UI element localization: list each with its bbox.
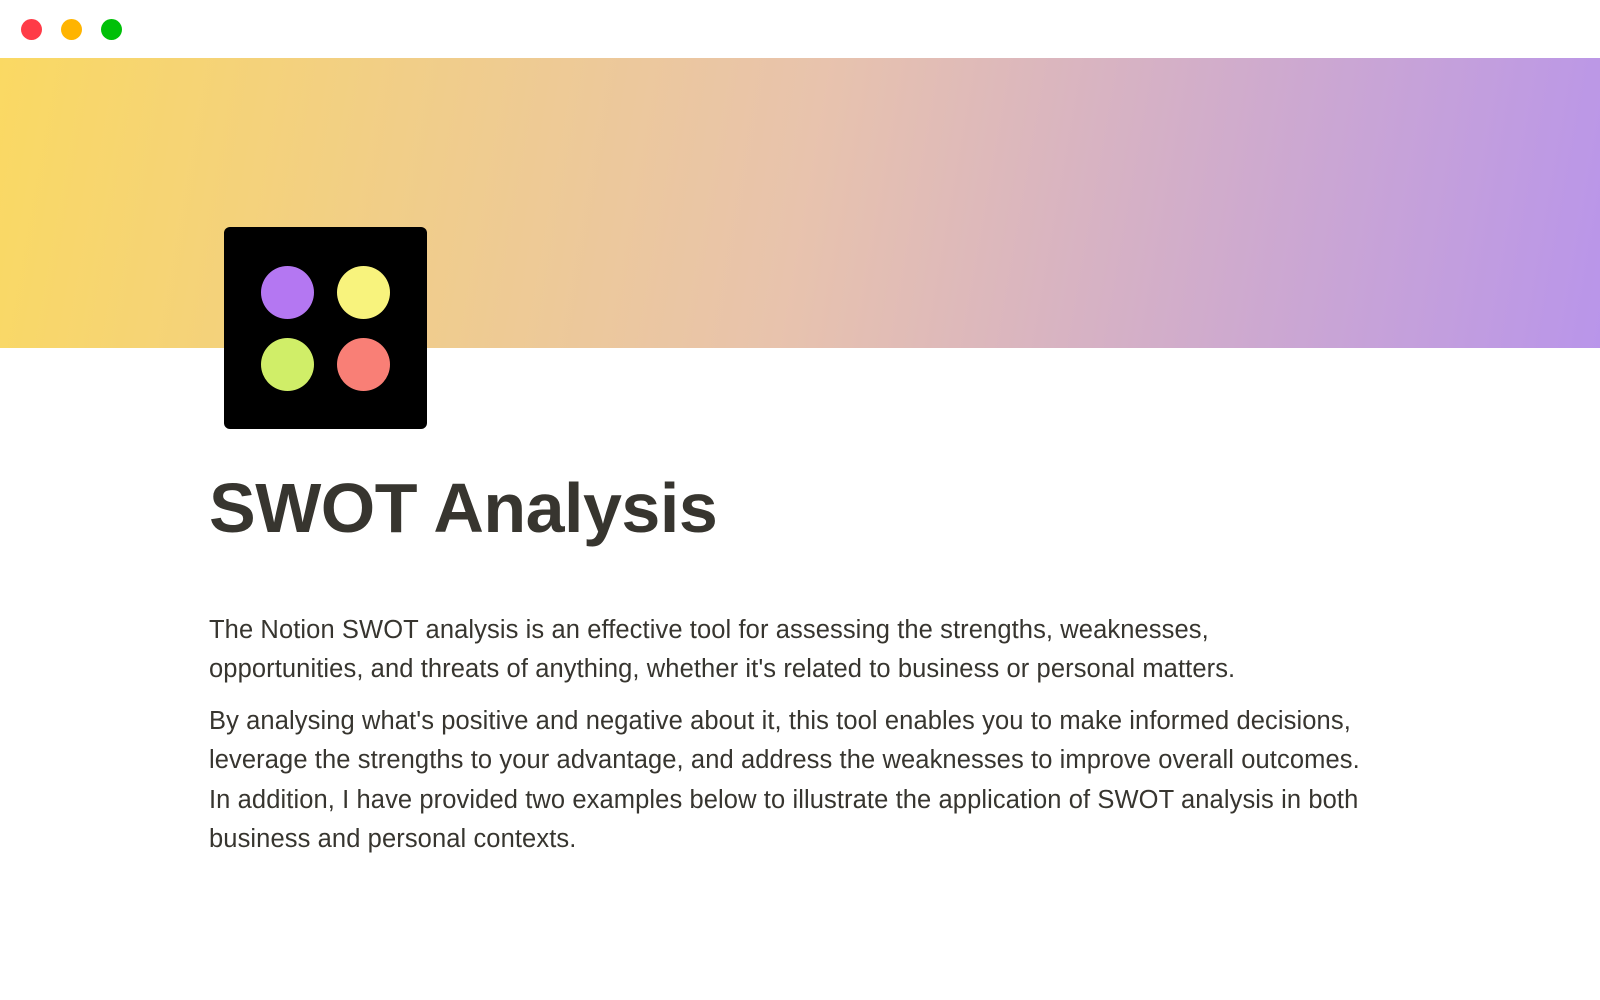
icon-dot-yellow [337,266,390,319]
icon-dot-purple [261,266,314,319]
description-paragraph[interactable]: By analysing what's positive and negativ… [209,702,1374,860]
intro-paragraph[interactable]: The Notion SWOT analysis is an effective… [209,611,1314,690]
minimize-button[interactable] [61,19,82,40]
document-content: SWOT Analysis The Notion SWOT analysis i… [209,468,1399,860]
window-controls [21,19,122,40]
page-title[interactable]: SWOT Analysis [209,468,1399,549]
maximize-button[interactable] [101,19,122,40]
icon-dot-salmon [337,338,390,391]
app-window: SWOT Analysis The Notion SWOT analysis i… [0,0,1600,1000]
page-icon[interactable] [224,227,427,429]
close-button[interactable] [21,19,42,40]
icon-dot-lime [261,338,314,391]
window-titlebar [0,0,1600,58]
